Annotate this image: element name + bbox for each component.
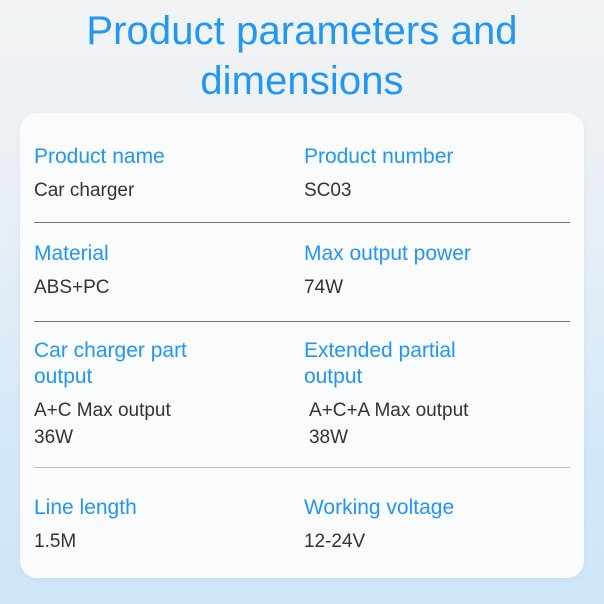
spec-value: Car charger bbox=[34, 177, 304, 204]
spec-cell-product-number: Product number SC03 bbox=[304, 144, 570, 204]
spec-cell-product-name: Product name Car charger bbox=[34, 144, 304, 204]
spec-cell-car-charger-part-output: Car charger part output A+C Max output 3… bbox=[34, 338, 304, 451]
product-spec-page: Product parameters and dimensions Produc… bbox=[0, 0, 604, 604]
table-row: Car charger part output A+C Max output 3… bbox=[34, 322, 570, 467]
spec-label: Working voltage bbox=[304, 495, 570, 521]
spec-cell-line-length: Line length 1.5M bbox=[34, 495, 304, 555]
spec-value: A+C+A Max output 38W bbox=[304, 397, 570, 451]
table-row: Line length 1.5M Working voltage 12-24V bbox=[34, 468, 570, 555]
spec-value: A+C Max output 36W bbox=[34, 397, 304, 451]
spec-label: Car charger part output bbox=[34, 338, 304, 390]
table-row: Product name Car charger Product number … bbox=[34, 113, 570, 222]
spec-label: Line length bbox=[34, 495, 304, 521]
spec-value: 12-24V bbox=[304, 528, 570, 555]
table-row: Material ABS+PC Max output power 74W bbox=[34, 223, 570, 321]
spec-label: Max output power bbox=[304, 241, 570, 267]
spec-value: 1.5M bbox=[34, 528, 304, 555]
spec-card: Product name Car charger Product number … bbox=[20, 113, 584, 578]
spec-label: Extended partial output bbox=[304, 338, 570, 390]
spec-label: Product name bbox=[34, 144, 304, 170]
spec-value: 74W bbox=[304, 274, 570, 301]
spec-cell-max-output-power: Max output power 74W bbox=[304, 241, 570, 301]
spec-cell-extended-partial-output: Extended partial output A+C+A Max output… bbox=[304, 338, 570, 451]
spec-value: ABS+PC bbox=[34, 274, 304, 301]
spec-cell-material: Material ABS+PC bbox=[34, 241, 304, 301]
page-title: Product parameters and dimensions bbox=[0, 6, 604, 106]
spec-cell-working-voltage: Working voltage 12-24V bbox=[304, 495, 570, 555]
spec-value: SC03 bbox=[304, 177, 570, 204]
spec-label: Product number bbox=[304, 144, 570, 170]
spec-table: Product name Car charger Product number … bbox=[20, 113, 584, 578]
spec-label: Material bbox=[34, 241, 304, 267]
